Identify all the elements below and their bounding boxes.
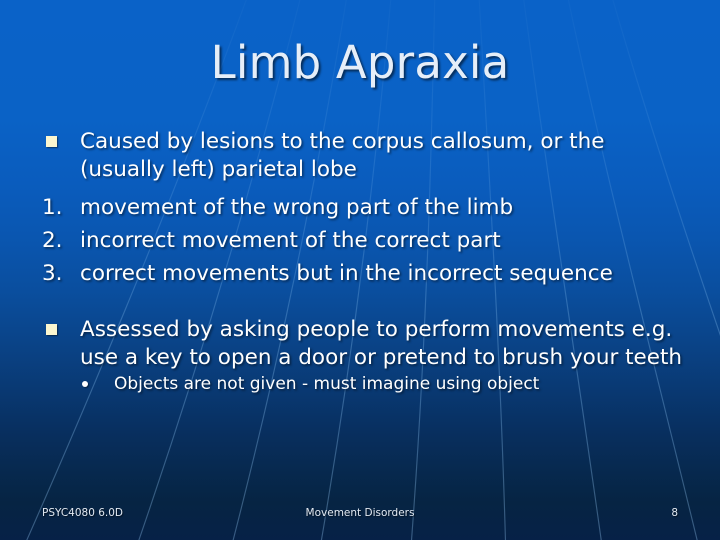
- square-bullet-icon: [46, 324, 57, 335]
- presentation-slide: Limb Apraxia Caused by lesions to the co…: [0, 0, 720, 540]
- slide-body: Caused by lesions to the corpus callosum…: [36, 128, 688, 397]
- sub-bullet-item: Objects are not given - must imagine usi…: [36, 371, 688, 397]
- slide-title: Limb Apraxia: [0, 36, 720, 90]
- bullet-text: Assessed by asking people to perform mov…: [80, 317, 682, 370]
- bullet-text: Caused by lesions to the corpus callosum…: [80, 129, 604, 182]
- numbered-text: correct movements but in the incorrect s…: [80, 261, 613, 286]
- square-bullet-icon: [46, 136, 57, 147]
- dot-bullet-icon: [82, 381, 88, 387]
- sub-bullet-text: Objects are not given - must imagine usi…: [114, 374, 539, 394]
- list-number: 2.: [42, 224, 70, 257]
- numbered-text: movement of the wrong part of the limb: [80, 195, 513, 220]
- bullet-item: Caused by lesions to the corpus callosum…: [36, 128, 688, 183]
- footer-topic: Movement Disorders: [0, 507, 720, 519]
- numbered-item: 3. correct movements but in the incorrec…: [36, 257, 688, 290]
- spacer: [36, 183, 688, 191]
- list-number: 1.: [42, 191, 70, 224]
- numbered-item: 2. incorrect movement of the correct par…: [36, 224, 688, 257]
- footer-page-number: 8: [671, 507, 678, 519]
- numbered-item: 1. movement of the wrong part of the lim…: [36, 191, 688, 224]
- spacer: [36, 290, 688, 316]
- list-number: 3.: [42, 257, 70, 290]
- numbered-text: incorrect movement of the correct part: [80, 228, 501, 253]
- bullet-item: Assessed by asking people to perform mov…: [36, 316, 688, 371]
- slide-footer: PSYC4080 6.0D Movement Disorders 8: [0, 494, 720, 540]
